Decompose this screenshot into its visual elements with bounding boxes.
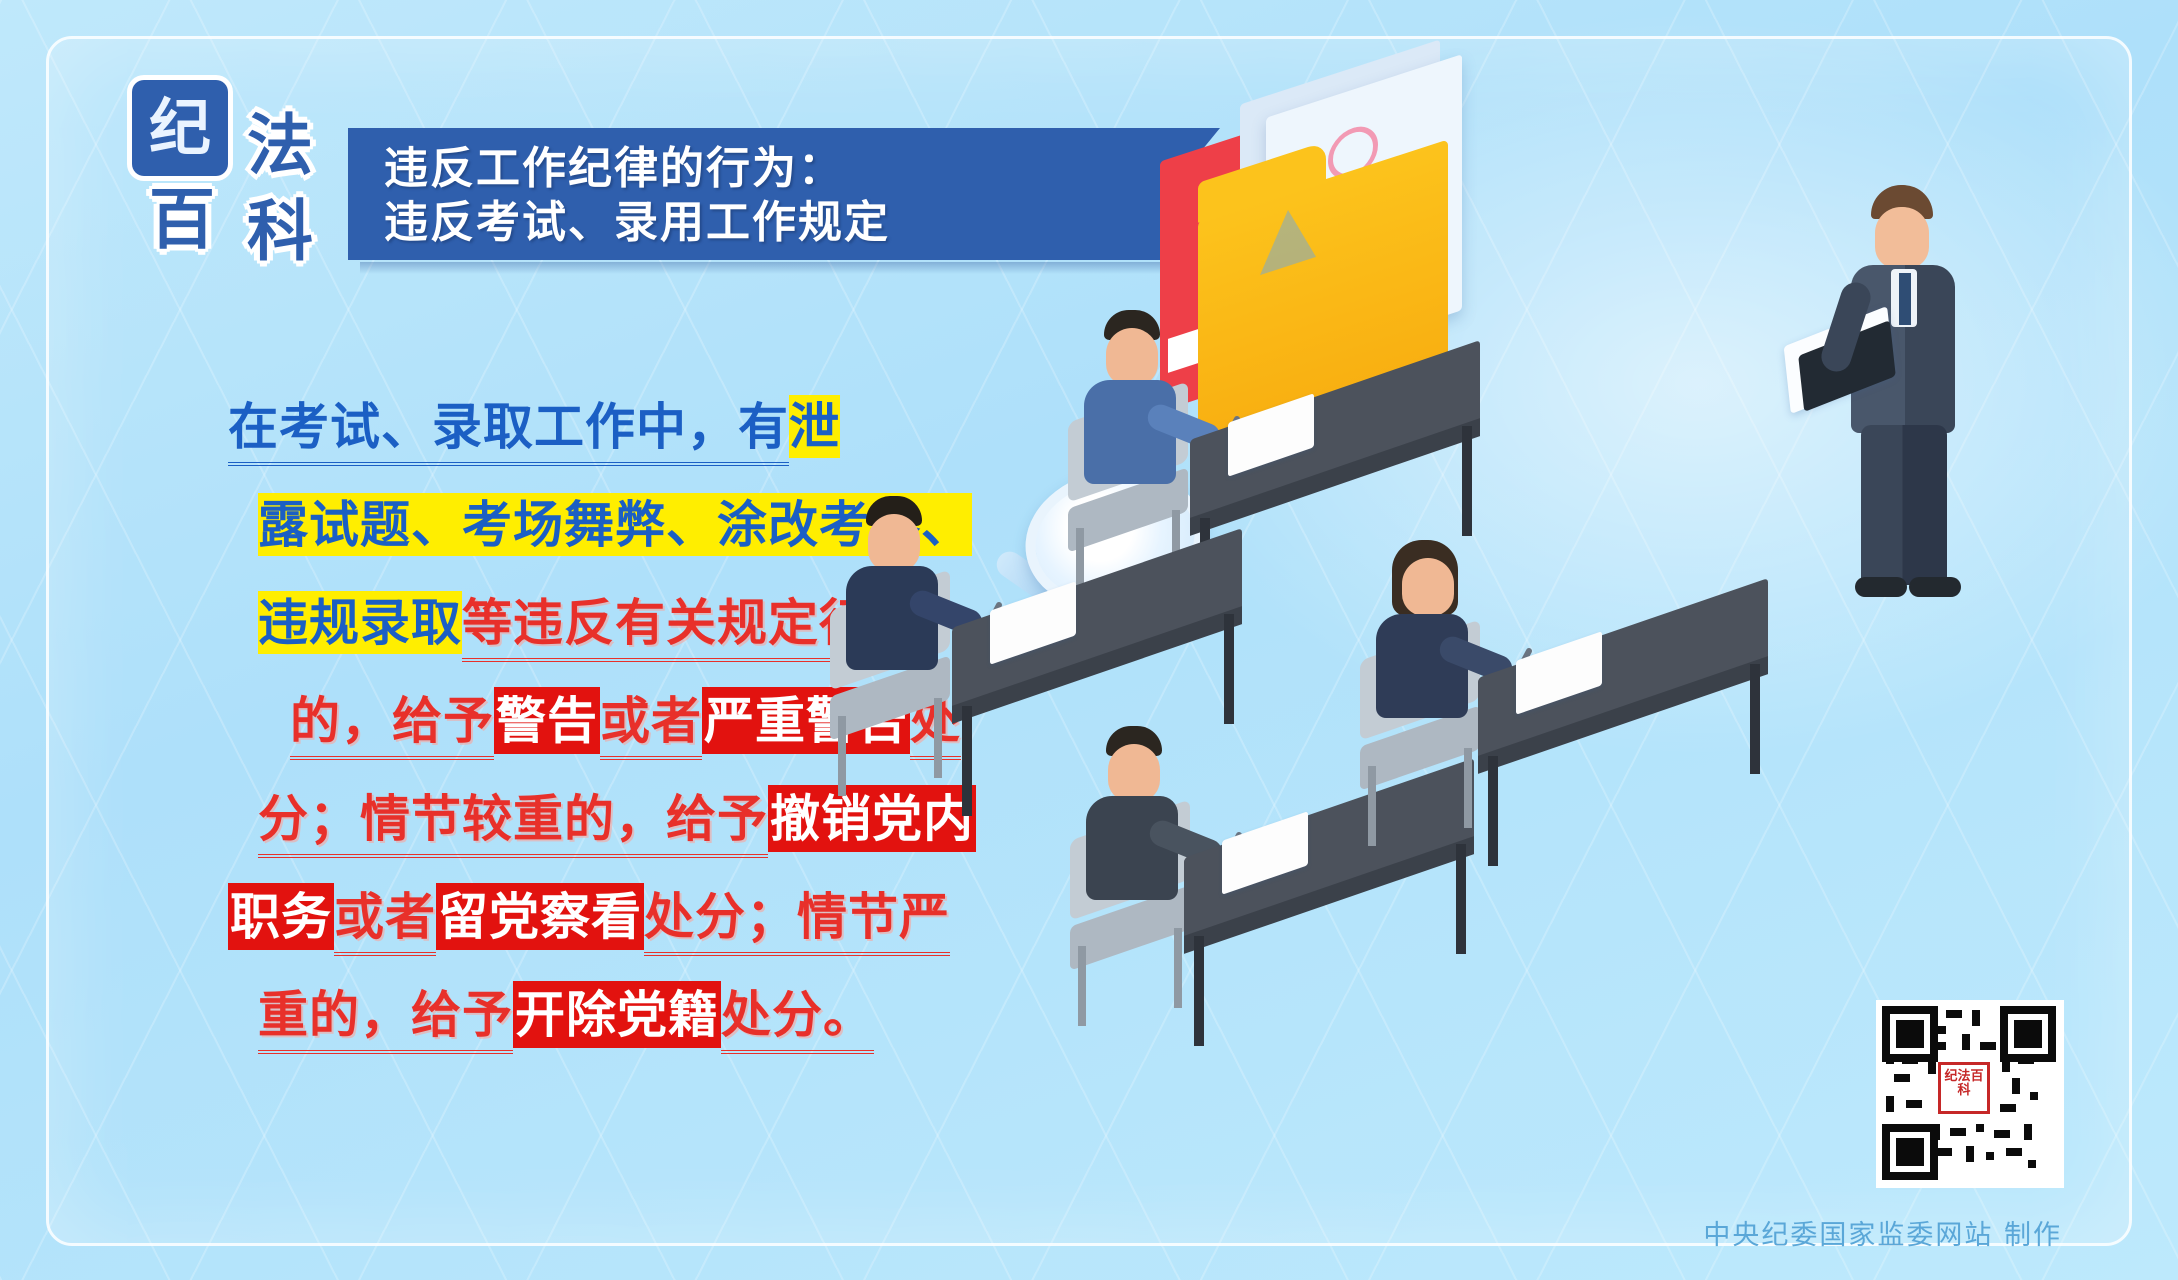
qr-module — [1894, 1074, 1910, 1082]
candidate-body — [1376, 614, 1468, 718]
body-seg-plain: 处分。 — [721, 985, 874, 1054]
qr-module — [2006, 1148, 2022, 1156]
body-seg-boxed: 警告 — [494, 687, 600, 754]
qr-code[interactable]: 纪法百科 — [1876, 1000, 2064, 1188]
body-line-6: 职务或者留党察看处分；情节严 — [228, 868, 918, 966]
qr-module — [2000, 1104, 2016, 1112]
qr-module — [2028, 1160, 2036, 1168]
body-line-3: 违规录取等违反有关规定行为 — [228, 574, 918, 672]
body-text-block: 在考试、录取工作中，有泄 露试题、考场舞弊、涂改考卷、 违规录取等违反有关规定行… — [228, 378, 918, 1064]
chair-leg — [1464, 748, 1472, 828]
body-seg-boxed: 留党察看 — [436, 883, 644, 950]
logo-char-2: 法 — [232, 98, 328, 194]
desk-leg — [1194, 936, 1204, 1046]
logo-char-1: 纪 — [132, 80, 228, 176]
qr-module — [1886, 1056, 1894, 1064]
header-banner: 违反工作纪律的行为： 违反考试、录用工作规定 — [348, 128, 1166, 260]
header-line-2: 违反考试、录用工作规定 — [348, 196, 1166, 250]
qr-module — [1950, 1128, 1966, 1136]
body-seg-plain: 在考试、录取工作中，有 — [228, 397, 789, 466]
qr-module — [1966, 1146, 1974, 1162]
body-seg-plain: 或者 — [334, 887, 436, 956]
body-seg-highlight: 泄 — [789, 395, 840, 458]
desk-leg — [962, 706, 972, 816]
chair-leg — [1368, 766, 1376, 846]
body-seg-highlight: 违规录取 — [258, 591, 462, 654]
body-seg-boxed: 开除党籍 — [513, 981, 721, 1048]
qr-module — [1994, 1130, 2010, 1138]
qr-module — [1946, 1010, 1962, 1018]
qr-module — [1930, 1010, 1938, 1018]
qr-module — [2024, 1124, 2032, 1140]
qr-module — [2012, 1078, 2020, 1094]
body-line-4: 的，给予警告或者严重警告处 — [228, 672, 918, 770]
chair-leg — [934, 698, 942, 778]
candidate-head — [1402, 558, 1454, 616]
body-seg-boxed: 撤销党内 — [768, 785, 976, 852]
credit-text: 中央纪委国家监委网站 制作 — [1703, 1213, 2062, 1252]
body-seg-plain: 分；情节较重的，给予 — [258, 789, 768, 858]
body-line-1: 在考试、录取工作中，有泄 — [228, 378, 918, 476]
qr-finder-icon — [1882, 1124, 1938, 1180]
chair-leg — [1078, 946, 1086, 1026]
qr-module — [2002, 1056, 2010, 1072]
body-seg-plain: 或者 — [600, 691, 702, 760]
logo-char-3: 百 — [134, 172, 230, 268]
qr-center-stamp: 纪法百科 — [1938, 1062, 1990, 1114]
qr-module — [1886, 1096, 1894, 1112]
qr-module — [1906, 1100, 1922, 1108]
banner-shadow — [360, 262, 1172, 274]
chair-leg — [1174, 928, 1182, 1008]
body-line-7: 重的，给予开除党籍处分。 — [228, 966, 918, 1064]
body-line-5: 分；情节较重的，给予撤销党内 — [228, 770, 918, 868]
body-line-2: 露试题、考场舞弊、涂改考卷、 — [228, 476, 918, 574]
body-seg-plain: 处分；情节严 — [644, 887, 950, 956]
brand-logo: 纪 法 百 科 — [132, 80, 332, 270]
body-seg-plain: 的，给予 — [290, 691, 494, 760]
qr-module — [1938, 1042, 1946, 1050]
qr-module — [1928, 1058, 1936, 1074]
qr-module — [1962, 1034, 1970, 1050]
body-seg-plain: 重的，给予 — [258, 985, 513, 1054]
desk-leg — [1488, 756, 1498, 866]
chair-leg — [838, 716, 846, 796]
qr-module — [1930, 1026, 1946, 1034]
candidate-head — [868, 514, 920, 572]
qr-module — [1932, 1124, 1940, 1140]
body-seg-highlight: 露试题、考场舞弊、涂改考卷、 — [258, 493, 972, 556]
candidate-head — [1106, 328, 1158, 386]
body-seg-boxed: 职务 — [228, 883, 334, 950]
qr-module — [1972, 1010, 1980, 1026]
infographic-poster: 纪 法 百 科 违反工作纪律的行为： 违反考试、录用工作规定 在考试、录取工作中… — [0, 0, 2178, 1280]
header-line-1: 违反工作纪律的行为： — [348, 128, 1166, 196]
desk-leg — [1750, 664, 1760, 774]
logo-char-4: 科 — [232, 184, 328, 280]
qr-module — [1902, 1056, 1918, 1064]
candidate-head — [1108, 744, 1160, 802]
qr-module — [1980, 1042, 1996, 1050]
qr-module — [1976, 1124, 1984, 1132]
qr-module — [2030, 1092, 2038, 1100]
desk-leg — [1224, 614, 1234, 724]
desk-leg — [1462, 426, 1472, 536]
qr-module — [1986, 1152, 1994, 1160]
qr-module — [2018, 1056, 2034, 1064]
qr-module — [1936, 1148, 1952, 1156]
desk-leg — [1456, 844, 1466, 954]
qr-finder-icon — [2000, 1006, 2056, 1062]
